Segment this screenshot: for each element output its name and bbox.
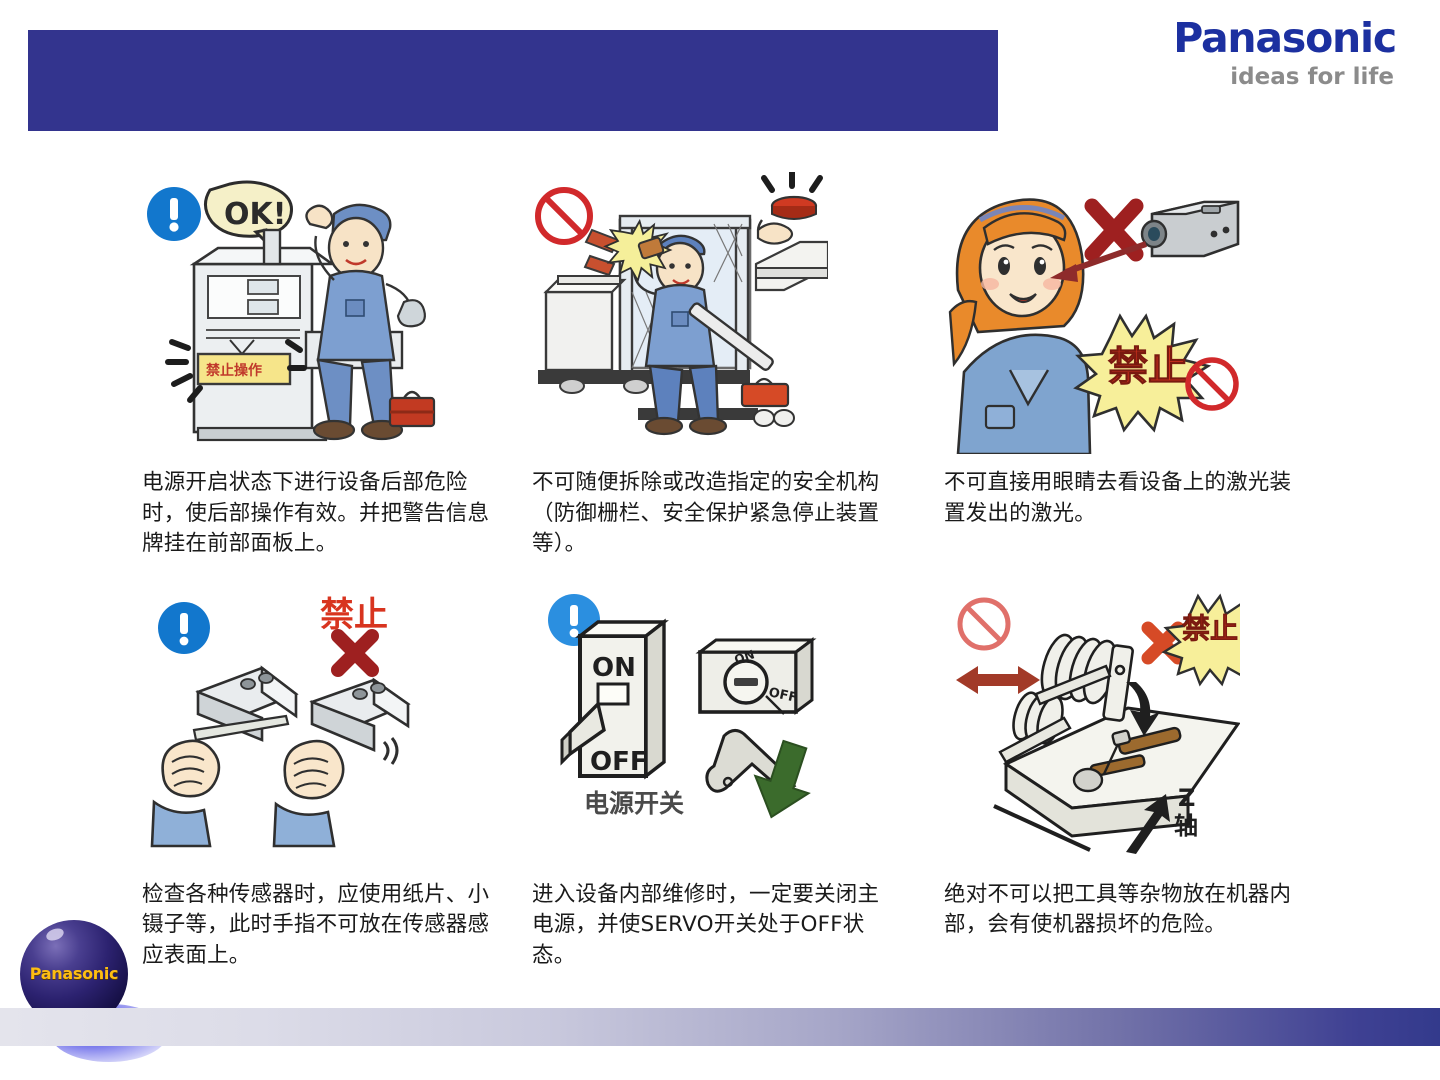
caption-rear-operation: 电源开启状态下进行设备后部危险时，使后部操作有效。并把警告信息牌挂在前部面板上。 [142,468,492,560]
prohibited-badge-text: 禁止 [1108,344,1188,390]
safety-item-safety-guard: 不可随便拆除或改造指定的安全机构（防御栅栏、安全保护紧急停止装置等）。 [518,172,930,560]
no-tools-inside-svg: 禁止 [940,584,1240,866]
laser-device [1142,202,1238,256]
safety-guard-svg [528,172,828,454]
machine-sign-text: 禁止操作 [206,362,262,379]
safety-item-laser-eyes: 禁止 不可直接用眼睛去看设备上的激光装置发出的激光。 [930,172,1328,560]
footer-gradient-band [0,1008,1440,1046]
z-axis-label-cn: 轴 [1174,812,1198,840]
sphere-highlight [45,926,66,942]
brand-name: Panasonic [1173,18,1396,59]
illustration-rear-operation: OK! [138,172,438,454]
rear-operation-svg: OK! [138,172,438,454]
vibration-marks [384,738,397,764]
brand-tagline: ideas for life [1173,66,1394,89]
crate [546,276,624,370]
safety-item-power-off: ON OFF 电源开关 ON OF [518,584,930,972]
illustration-laser-eyes: 禁止 [940,172,1240,454]
prohibited-badge: 禁止 [1164,596,1240,684]
prohibited-text: 禁止 [320,595,388,635]
switch-on-label: ON [592,653,636,683]
prohibited-text-mark: 禁止 [320,595,388,670]
caption-power-off: 进入设备内部维修时，一定要关闭主电源，并使SERVO开关处于OFF状态。 [532,880,882,972]
red-prohibition-icon-small [1188,360,1236,408]
red-prohibition-icon [960,600,1008,648]
broken-bar-pieces [585,230,618,275]
safety-item-no-tools-inside: 禁止 [930,584,1328,972]
safety-item-rear-operation: OK! [128,172,518,560]
key-switch-box: ON OFF [700,640,812,714]
power-switch-name: 电源开关 [584,789,684,818]
emergency-stop-button [756,172,828,290]
safety-items-grid: OK! [128,172,1328,971]
prohibited-badge-text: 禁止 [1182,612,1238,645]
caption-no-tools-inside: 绝对不可以把工具等杂物放在机器内部，会有使机器损坏的危险。 [944,880,1294,941]
switch-off-label: OFF [590,747,648,777]
sensor-check-svg: 禁止 [138,584,438,866]
panasonic-brand-logo: Panasonic ideas for life [1173,18,1396,89]
header-accent-bar [28,30,998,131]
laser-eyes-svg: 禁止 [940,172,1240,454]
red-prohibition-icon [538,190,590,242]
safety-item-sensor-check: 禁止 [128,584,518,972]
illustration-safety-guard [528,172,828,454]
z-axis-label: Z [1178,784,1195,812]
girl-figure [950,200,1090,454]
caption-sensor-check: 检查各种传感器时，应使用纸片、小镊子等，此时手指不可放在传感器感应表面上。 [142,880,492,972]
caption-laser-eyes: 不可直接用眼睛去看设备上的激光装置发出的激光。 [944,468,1294,529]
toolbox [390,392,434,426]
illustration-sensor-check: 禁止 [138,584,438,866]
blue-exclamation-icon [158,602,210,654]
illustration-power-off: ON OFF 电源开关 ON OF [528,584,828,866]
sphere-label: Panasonic [20,964,128,983]
caption-safety-guard: 不可随便拆除或改造指定的安全机构（防御栅栏、安全保护紧急停止装置等）。 [532,468,882,560]
slide-root: Panasonic ideas for life OK [0,0,1440,1080]
illustration-no-tools-inside: 禁止 [940,584,1240,866]
power-off-svg: ON OFF 电源开关 ON OF [528,584,828,866]
blue-exclamation-icon [147,187,201,241]
double-sided-arrow [956,666,1040,694]
ok-bubble-text: OK! [224,197,286,232]
